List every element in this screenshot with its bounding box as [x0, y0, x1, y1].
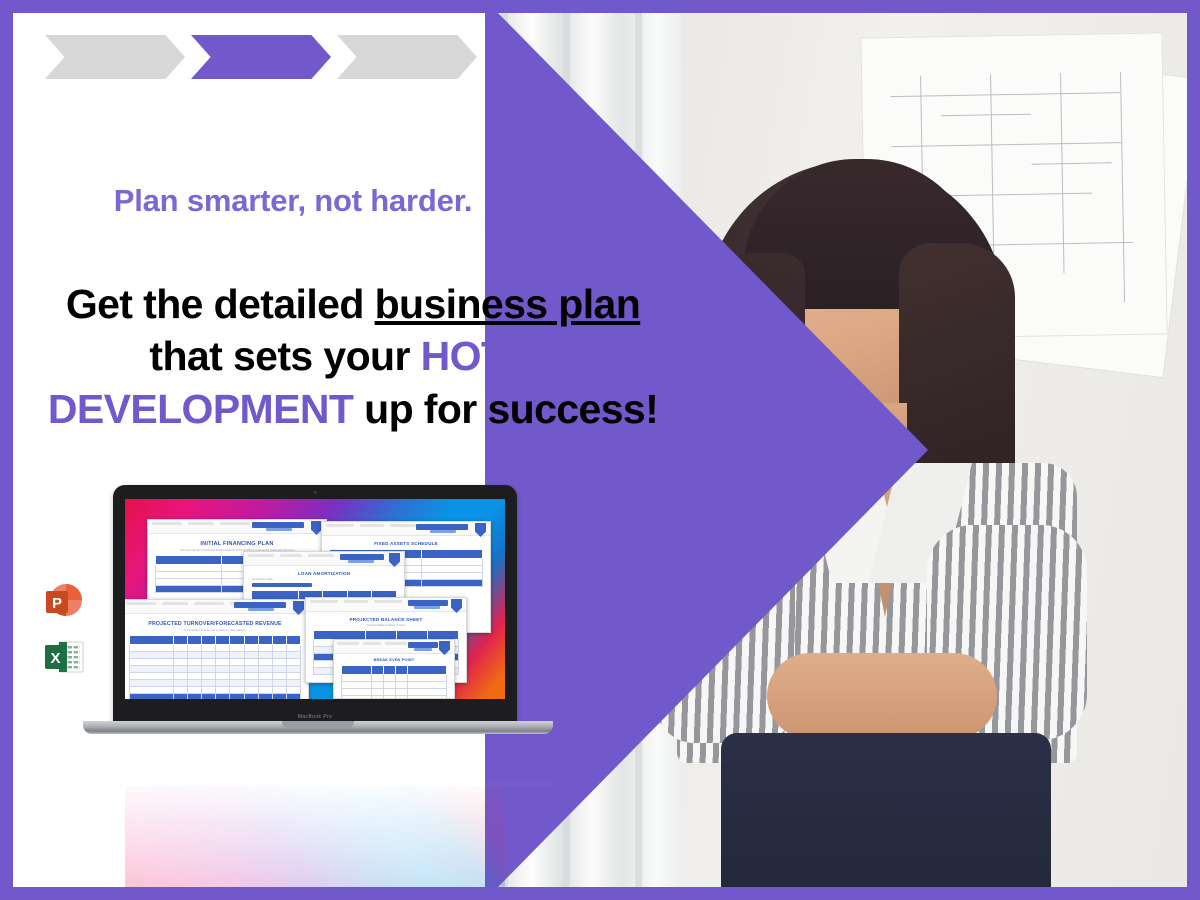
reflection-screen [125, 785, 505, 887]
progress-step-2-active[interactable] [191, 35, 331, 79]
laptop-lid: INITIAL FINANCING PLAN The financing pla… [113, 485, 517, 725]
reflection-base [83, 773, 553, 786]
doc-subtitle: Amortization table [252, 578, 404, 581]
headline-line2-plain: that sets your [149, 333, 420, 379]
headline-line3-plain: up for success! [353, 386, 658, 432]
crossed-arms [767, 653, 997, 739]
slide-frame: Plan smarter, not harder. Get the detail… [0, 0, 1200, 900]
progress-chevrons [45, 35, 477, 79]
webcam-icon [314, 491, 317, 494]
doc-title: PROJECTED BALANCE SHEET [306, 617, 466, 622]
progress-step-3[interactable] [337, 35, 477, 79]
doc-ribbon [148, 520, 326, 534]
trousers [721, 733, 1051, 887]
doc-ribbon [125, 600, 308, 614]
excel-icon: X [41, 634, 87, 680]
doc-table [341, 665, 447, 699]
headline-business-plan: business plan [375, 281, 641, 327]
svg-text:X: X [50, 650, 60, 667]
laptop-reflection [83, 773, 553, 887]
doc-title: BREAK EVEN POINT [334, 658, 454, 662]
laptop-model-label: MacBook Pro [113, 714, 517, 720]
tagline: Plan smarter, not harder. [13, 183, 573, 219]
laptop-notch [282, 721, 354, 728]
shield-icon [293, 601, 304, 615]
headline-hotel: HOTEL [421, 333, 557, 379]
progress-step-1[interactable] [45, 35, 185, 79]
doc-title: INITIAL FINANCING PLAN [148, 541, 326, 547]
shield-icon [475, 523, 486, 537]
person-figure [647, 133, 1117, 887]
svg-text:P: P [52, 595, 62, 612]
document-break-even-point[interactable]: BREAK EVEN POINT [333, 639, 455, 699]
content-column: Plan smarter, not harder. Get the detail… [13, 13, 633, 887]
doc-ribbon [306, 598, 466, 612]
shield-icon [439, 641, 450, 655]
doc-title: LOAN AMORTIZATION [244, 571, 404, 576]
shield-icon [451, 599, 462, 613]
laptop-mockup: INITIAL FINANCING PLAN The financing pla… [83, 485, 553, 755]
headline-line1-plain: Get the detailed [66, 281, 375, 327]
doc-title: PROJECTED TURNOVER/FORECASTED REVENUE [125, 621, 308, 627]
headline: Get the detailed business plan that sets… [13, 278, 693, 435]
window-mullion [635, 13, 642, 887]
doc-title: FIXED ASSETS SCHEDULE [322, 541, 490, 546]
doc-subtitle: The projected revenue over 3 years, by s… [125, 629, 308, 632]
doc-ribbon [244, 552, 404, 566]
headline-development: DEVELOPMENT [48, 386, 354, 432]
powerpoint-icon: P [41, 578, 87, 624]
document-projected-turnover[interactable]: PROJECTED TURNOVER/FORECASTED REVENUE Th… [125, 599, 309, 699]
laptop-screen: INITIAL FINANCING PLAN The financing pla… [125, 499, 505, 699]
shield-icon [389, 553, 400, 567]
doc-subtitle: Projected Balance Sheet, 3 Years [306, 624, 466, 627]
slide-inner: Plan smarter, not harder. Get the detail… [13, 13, 1187, 887]
doc-ribbon [334, 640, 454, 654]
doc-table [129, 635, 301, 699]
doc-ribbon [322, 522, 490, 536]
